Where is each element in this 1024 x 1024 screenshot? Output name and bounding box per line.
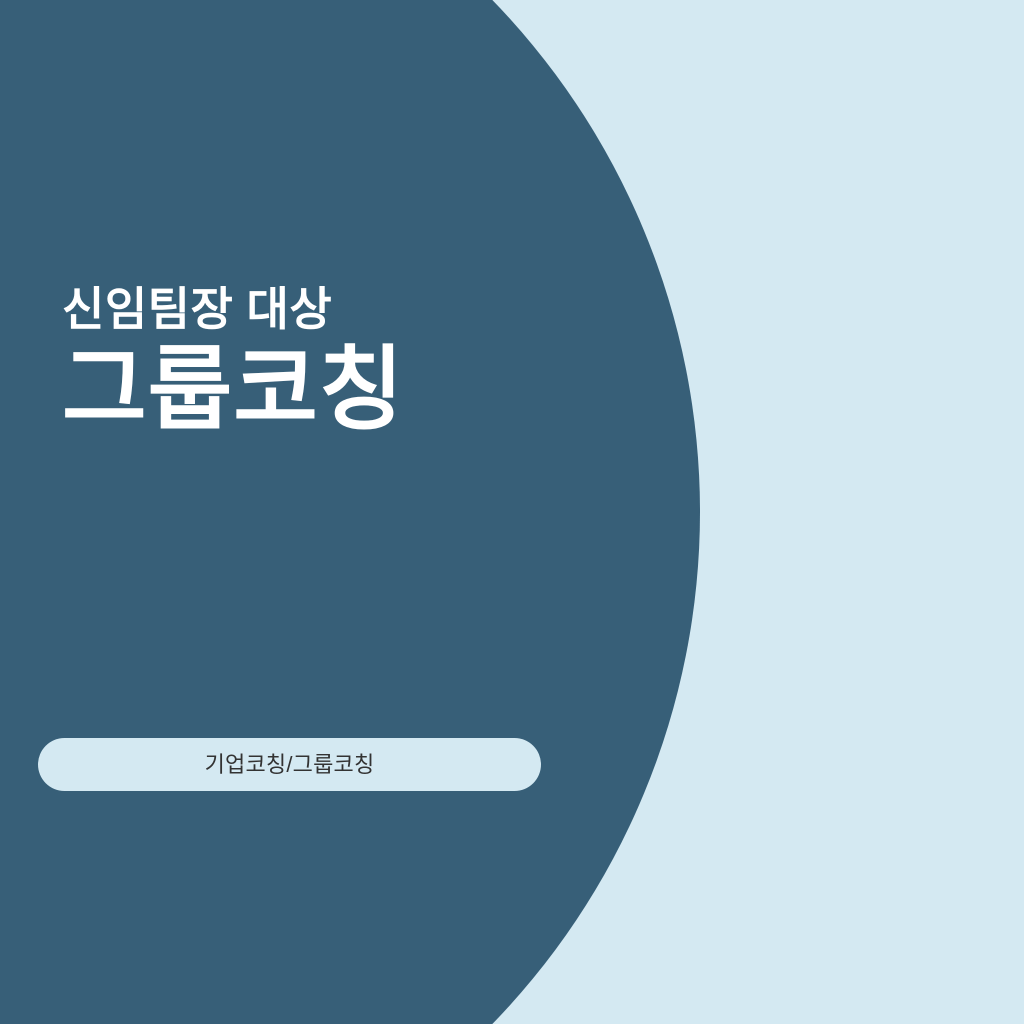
promo-poster: 신임팀장 대상 그룹코칭 기업코칭/그룹코칭 <box>0 0 1024 1024</box>
page-title: 그룹코칭 <box>62 342 622 439</box>
category-badge[interactable]: 기업코칭/그룹코칭 <box>38 738 541 791</box>
brand-circle-decoration <box>0 0 700 1024</box>
headline-block: 신임팀장 대상 그룹코칭 <box>62 284 622 438</box>
eyebrow-text: 신임팀장 대상 <box>62 284 622 336</box>
category-badge-label: 기업코칭/그룹코칭 <box>205 754 375 776</box>
